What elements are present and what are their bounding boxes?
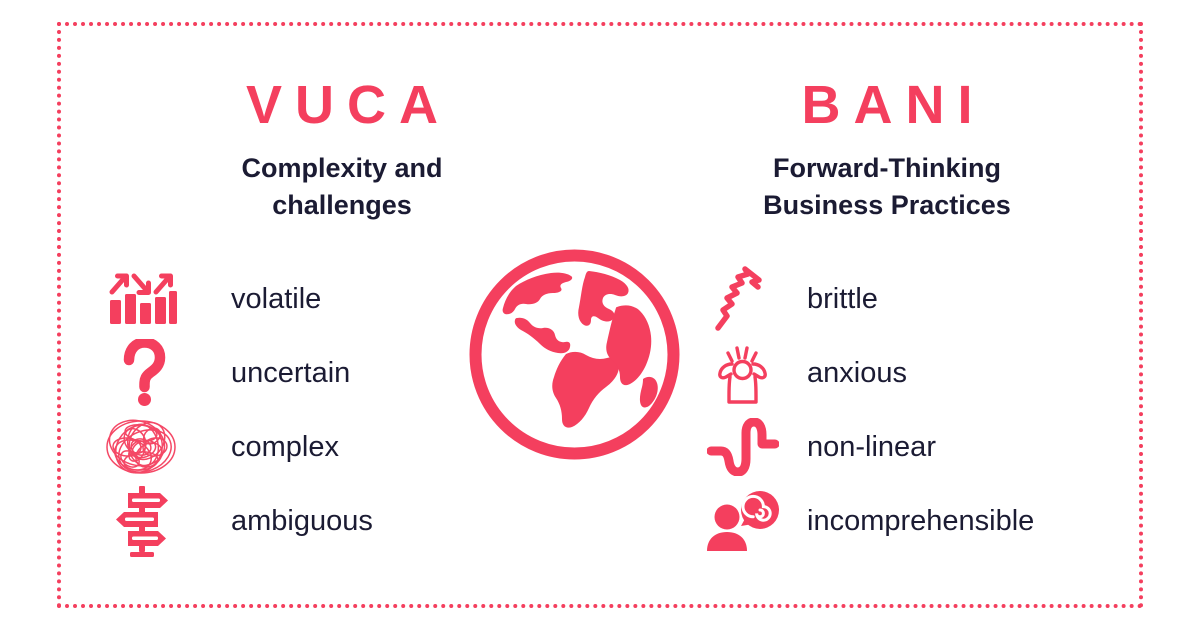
list-item: brittle (697, 262, 1127, 336)
list-item: incomprehensible (697, 484, 1127, 558)
list-item: ambiguous (97, 484, 517, 558)
list-item: non-linear (697, 410, 1127, 484)
bani-item-label-brittle: brittle (807, 285, 878, 314)
globe-icon (467, 247, 682, 462)
bani-item-label-anxious: anxious (807, 359, 907, 388)
bani-subtitle: Forward-Thinking Business Practices (697, 150, 1077, 225)
vuca-item-label-uncertain: uncertain (231, 359, 350, 388)
person-spiral-speech-icon (697, 486, 789, 556)
infographic-content: VUCA Complexity and challenges BANI Forw… (57, 22, 1143, 608)
vuca-item-label-volatile: volatile (231, 285, 321, 314)
bani-column-header: BANI Forward-Thinking Business Practices (697, 77, 1077, 224)
stressed-person-icon (697, 338, 789, 408)
list-item: volatile (97, 262, 517, 336)
list-item: complex (97, 410, 517, 484)
bar-chart-volatility-icon (97, 264, 189, 334)
bani-item-list: brittle (697, 262, 1127, 558)
vuca-column-header: VUCA Complexity and challenges (157, 77, 527, 224)
list-item: uncertain (97, 336, 517, 410)
question-mark-icon (97, 338, 189, 408)
crack-lightning-icon (697, 264, 789, 334)
vuca-item-label-ambiguous: ambiguous (231, 507, 373, 536)
tangled-scribble-icon (97, 412, 189, 482)
vuca-acronym-title: VUCA (157, 77, 527, 134)
infographic-canvas: VUCA Complexity and challenges BANI Forw… (0, 0, 1200, 630)
bani-item-label-incomprehensible: incomprehensible (807, 507, 1034, 536)
vuca-item-label-complex: complex (231, 433, 339, 462)
vuca-item-list: volatile uncertain (97, 262, 517, 558)
bani-acronym-title: BANI (697, 77, 1077, 134)
list-item: anxious (697, 336, 1127, 410)
signpost-icon (97, 486, 189, 556)
wave-squiggle-icon (697, 412, 789, 482)
bani-item-label-non-linear: non-linear (807, 433, 936, 462)
vuca-subtitle: Complexity and challenges (157, 150, 527, 225)
